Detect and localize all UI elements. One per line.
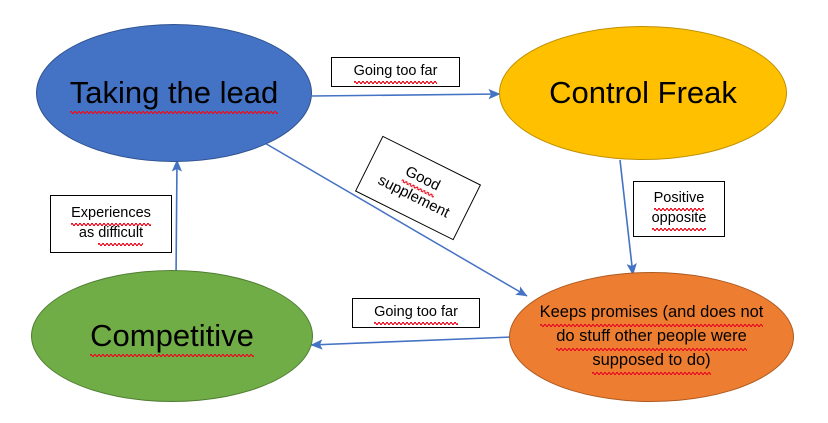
node-keeps-promises-line-3: supposed to do) — [592, 349, 710, 373]
diagram-canvas: Taking the lead Control Freak Competitiv… — [0, 0, 828, 423]
edge-label-positive-opposite-text: Positive opposite — [652, 189, 707, 228]
edge-label-positive-opposite-line-2: opposite — [652, 209, 707, 229]
node-taking-the-lead-label: Taking the lead — [60, 74, 289, 112]
edge-label-experiences-line-2a: as — [79, 225, 98, 241]
edge-label-experiences-line-2b: difficult — [98, 224, 143, 244]
edge-label-experiences-as-difficult[interactable]: Experiences as difficult — [50, 195, 172, 253]
node-competitive-text: Competitive — [90, 317, 254, 355]
node-control-freak-label: Control Freak — [539, 74, 747, 112]
node-keeps-promises-line-1: Keeps promises (and does not — [540, 301, 764, 325]
node-keeps-promises-label: Keeps promises (and does not do stuff ot… — [530, 301, 774, 373]
edge-label-experiences-line-1: Experiences — [71, 204, 151, 224]
node-keeps-promises[interactable]: Keeps promises (and does not do stuff ot… — [509, 272, 794, 402]
edge-label-going-too-far-bottom-text: Going too far — [374, 303, 458, 323]
edge-label-positive-opposite[interactable]: Positive opposite — [633, 181, 725, 237]
edge-label-going-too-far-top-text: Going too far — [354, 62, 438, 82]
arrow-control-freak-to-keeps-promises — [620, 160, 633, 275]
node-competitive[interactable]: Competitive — [31, 270, 313, 402]
node-taking-the-lead[interactable]: Taking the lead — [36, 24, 312, 162]
arrow-keeps-promises-to-competitive — [311, 337, 512, 345]
node-control-freak[interactable]: Control Freak — [499, 26, 787, 160]
edge-label-positive-opposite-line-1: Positive — [654, 189, 705, 209]
edge-label-experiences-as-difficult-text: Experiences as difficult — [71, 204, 151, 243]
edge-label-going-too-far-top[interactable]: Going too far — [331, 57, 460, 87]
arrow-competitive-to-taking-the-lead — [176, 160, 177, 280]
node-keeps-promises-line-2: do stuff other people were — [556, 325, 747, 349]
arrow-taking-the-lead-to-control-freak — [312, 94, 500, 96]
edge-label-going-too-far-bottom[interactable]: Going too far — [352, 298, 480, 328]
node-taking-the-lead-text: Taking the lead — [70, 74, 279, 112]
node-competitive-label: Competitive — [80, 317, 264, 355]
